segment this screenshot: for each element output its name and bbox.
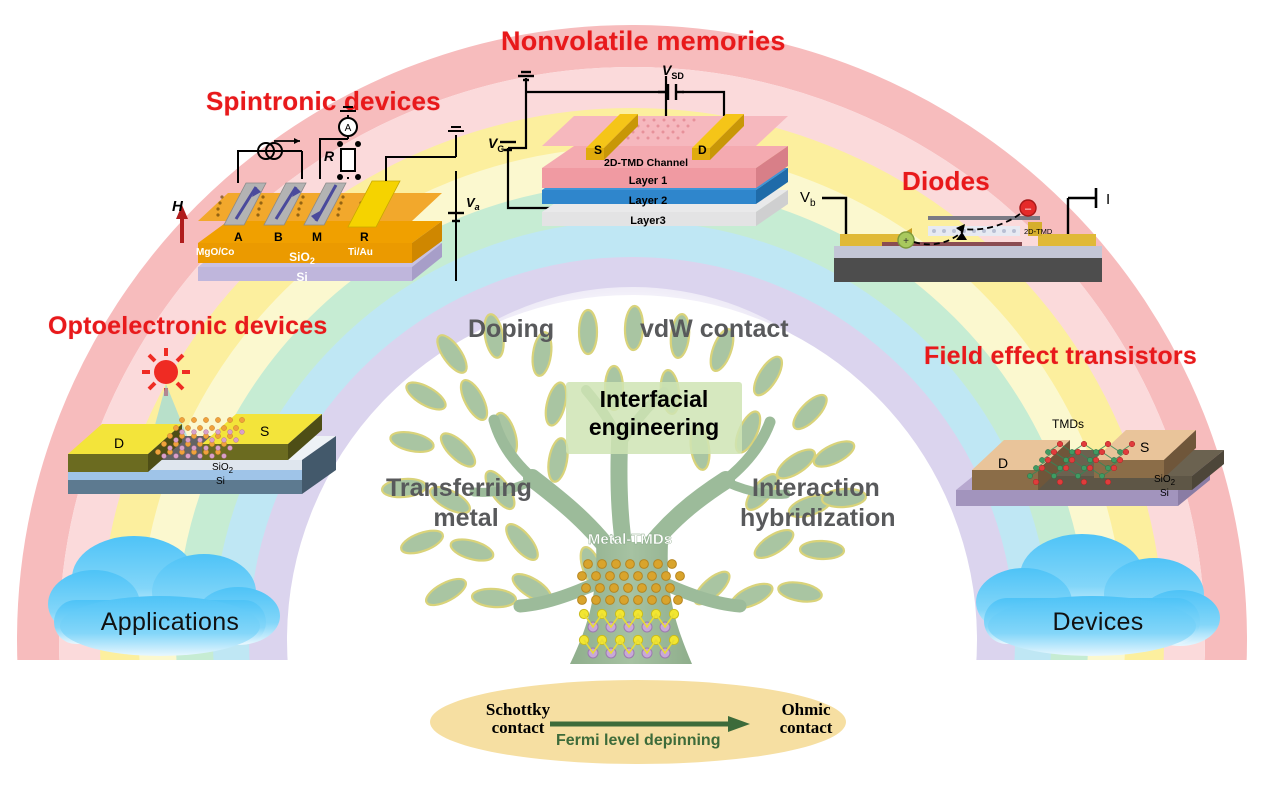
branch-label-interaction-line1: Interaction [752,474,880,503]
tree-center-label-line1: Interfacial [566,386,742,413]
resistor-label: R [324,148,335,164]
vsd-subscript: SD [671,71,684,81]
cloud-shape [48,536,280,656]
devices-cloud: Devices [972,530,1232,670]
memory-channel-label: 2D-TMD Channel [604,157,688,169]
trunk-label: Metal-TMDs [588,531,672,548]
memory-layer1-label: Layer 1 [629,175,668,187]
resistor-node-top-right [355,141,361,147]
spintronic-contact-material: Ti/Au [348,247,373,258]
optoelectronic-substrate-label: Si [216,476,225,487]
cloud-label-devices: Devices [1052,608,1143,636]
memory-vsd-source-symbol [658,84,684,100]
fet-drain-label: D [998,455,1008,471]
branch-label-transferring-metal-line1: Transferring [386,474,532,503]
spintronic-ground-symbol [340,107,464,131]
diode-channel-label: 2D-TMD [1024,227,1053,236]
branch-label-vdw-contact: vdW contact [640,315,789,344]
ohmic-contact-line1: Ohmic [760,700,852,720]
ohmic-contact-line2: contact [760,718,852,738]
memory-ground-symbol [518,72,534,80]
hole-carrier-label: + [903,236,909,247]
optoelectronic-drain-label: D [114,435,124,451]
resistor-node-bottom-right [355,174,361,180]
resistor-symbol [341,149,355,171]
diode-vb-label: Vb [800,189,816,209]
diode-upper-layer [928,216,1040,220]
applications-cloud: Applications [42,530,302,670]
spintronic-substrate-label: Si [296,270,307,284]
fet-schematic: TMDs D S SiO2 Si [942,378,1242,528]
nonvolatile-memory-schematic: S D 2D-TMD Channel Layer 1 Layer 2 Layer… [486,62,816,242]
memory-device-stack [542,114,788,226]
vsd-symbol: V [662,62,671,78]
spintronic-electrode-b: B [274,230,283,244]
title-nonvolatile-memories: Nonvolatile memories [501,26,786,57]
spintronic-electrode-m: M [312,230,322,244]
fermi-level-depinning-label: Fermi level depinning [556,732,720,750]
diode-2d-tmd-lattice [928,226,1020,236]
cloud-shape [976,534,1220,656]
memory-layer3-label: Layer3 [630,215,665,227]
figure-canvas: Applications Devices [0,0,1264,785]
electron-carrier-label: – [1025,203,1032,215]
memory-source-label: S [594,143,602,157]
spintronic-electrode-material: MgO/Co [196,247,234,258]
optoelectronic-schematic: D S SiO2 Si [52,348,342,508]
memory-vsd-label: VSD [662,62,684,81]
resistor-node-top-left [337,141,343,147]
title-optoelectronic-devices: Optoelectronic devices [48,312,328,341]
branch-label-hybridization-line2: hybridization [740,504,896,533]
diode-oxide [834,246,1102,258]
title-field-effect-transistors: Field effect transistors [924,342,1197,371]
ammeter-label: A [345,123,352,134]
diode-current-label: I [1106,191,1110,208]
spintronic-schematic: A A B M R MgO/Co Ti/Au SiO2 Si H R [170,105,500,295]
fet-source-label: S [1140,439,1149,455]
memory-drain-label: D [698,143,707,157]
branch-label-doping: Doping [468,315,554,344]
schottky-contact-line2: contact [470,718,566,738]
cloud-label-applications: Applications [101,608,239,636]
tree-center-label-line2: engineering [566,414,742,441]
fet-material-label: TMDs [1052,417,1084,431]
resistor-node-bottom-left [337,174,343,180]
optoelectronic-source-label: S [260,423,269,439]
spintronic-electrode-r: R [360,230,369,244]
fet-substrate-label: Si [1160,488,1169,499]
current-source-symbol [258,138,300,159]
diode-substrate [834,258,1102,282]
magnetic-field-label: H [172,198,184,215]
diode-schematic: + – 2D-TMD Vb I [800,180,1130,290]
branch-label-transferring-metal-line2: metal [386,504,546,533]
spintronic-electrode-a: A [234,230,243,244]
schottky-contact-line1: Schottky [470,700,566,720]
memory-layer2-label: Layer 2 [629,195,668,207]
spintronic-va-label: Va [466,195,480,212]
